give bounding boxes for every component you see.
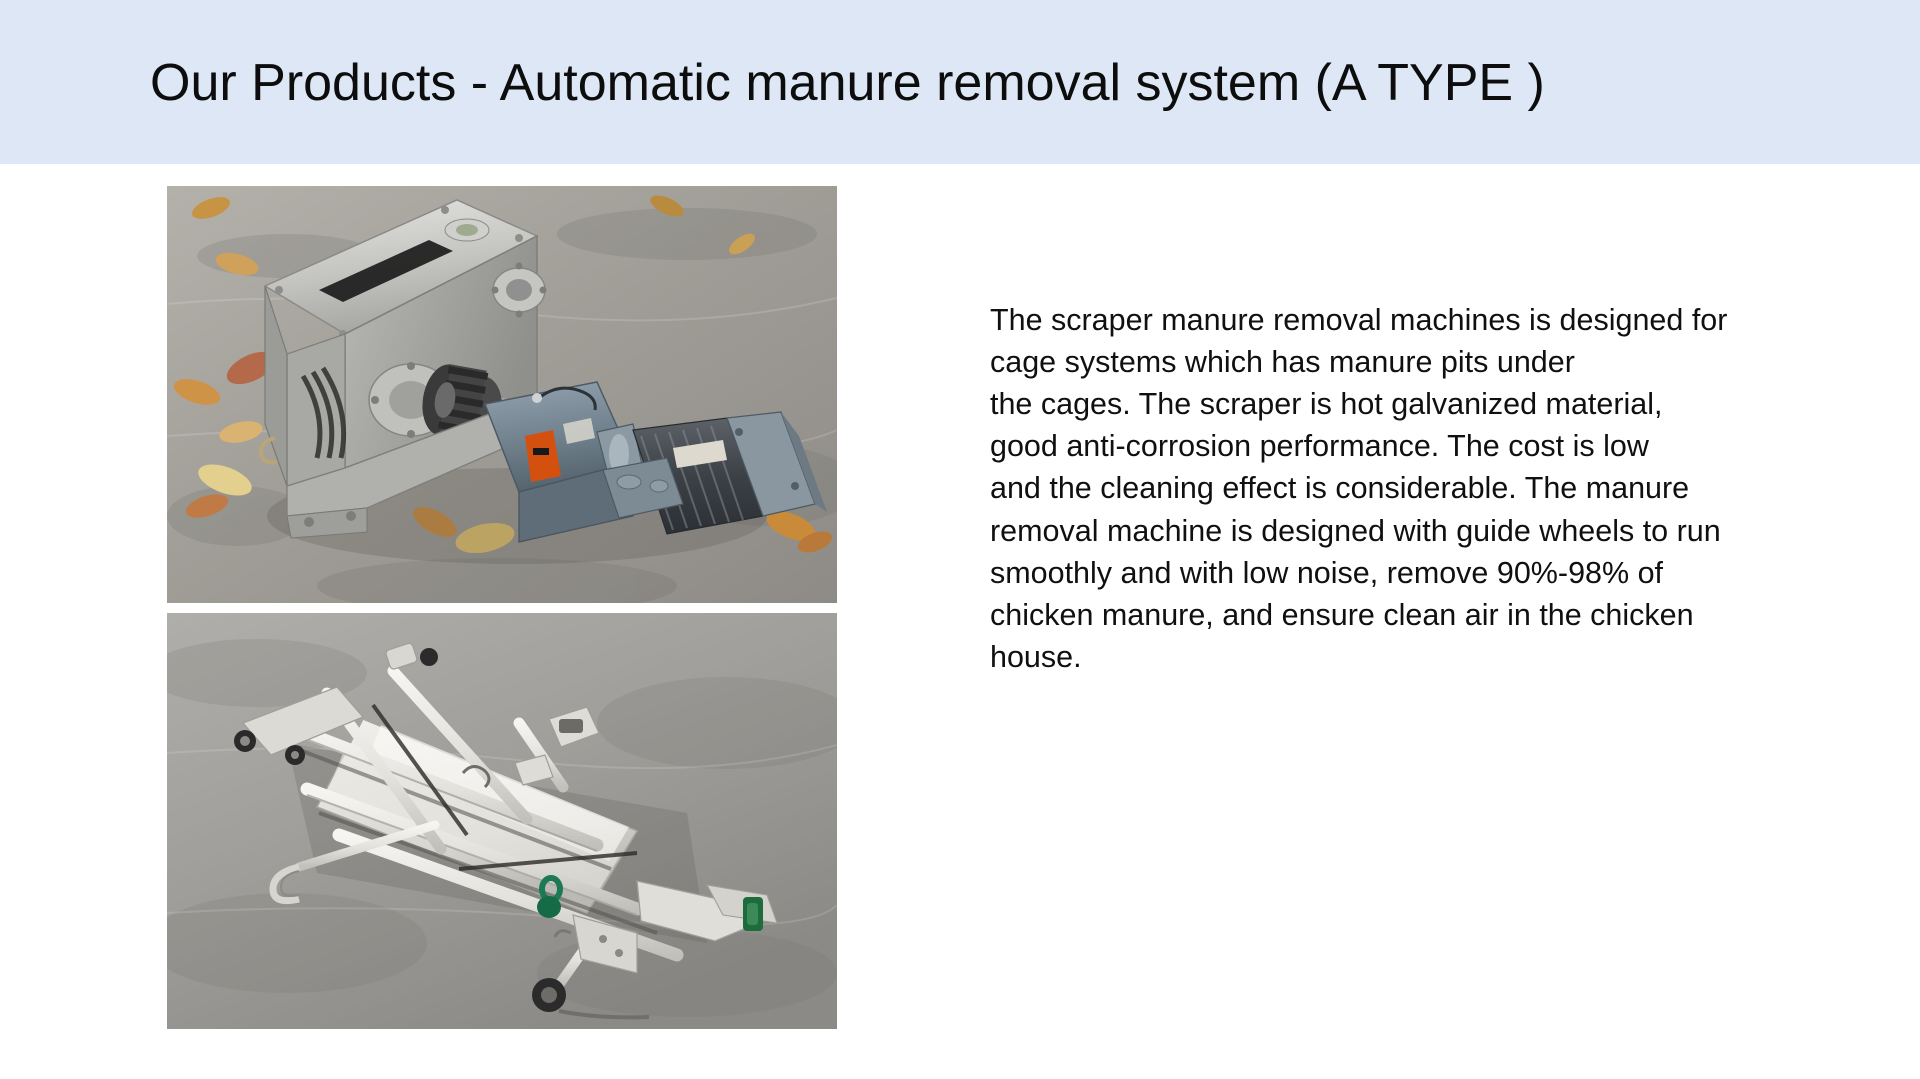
page-title: Our Products - Automatic manure removal … [150,52,1545,114]
product-image-column [167,186,837,1029]
gearbox-motor-photo [167,186,837,603]
description-paragraph: The scraper manure removal machines is d… [990,299,1820,679]
slide-header-banner: Our Products - Automatic manure removal … [0,0,1920,164]
scraper-frame-photo [167,613,837,1029]
product-description-block: The scraper manure removal machines is d… [990,268,1820,709]
